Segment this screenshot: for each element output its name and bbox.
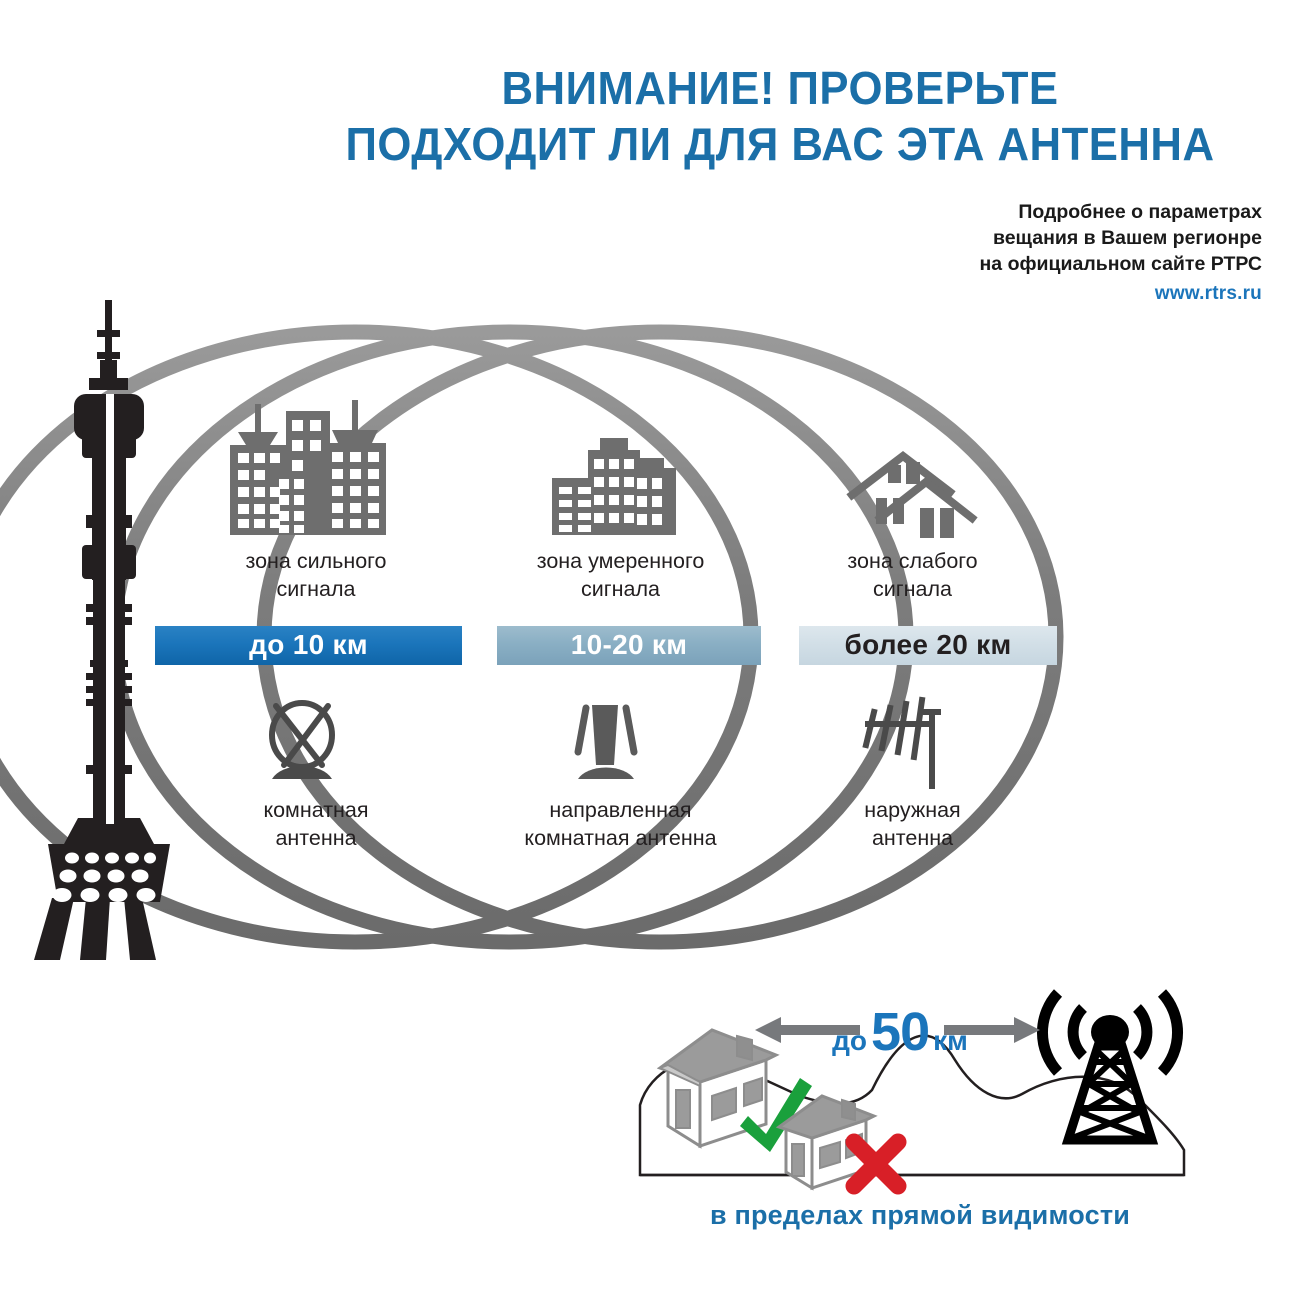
- zone-title-moderate: зона умеренного сигнала: [488, 548, 753, 603]
- antenna-label-outdoor: наружная антенна: [790, 797, 1035, 853]
- max-distance-prefix: до: [832, 1025, 867, 1057]
- zone-title-weak-line-1: зона слабого: [790, 548, 1035, 576]
- distance-band-strong: до 10 км: [155, 626, 462, 665]
- zone-title-strong-line-2: сигнала: [196, 576, 436, 604]
- distance-band-moderate-label: 10-20 км: [497, 629, 761, 661]
- distance-band-weak: более 20 км: [799, 626, 1057, 665]
- distance-band-strong-label: до 10 км: [155, 629, 462, 661]
- page-title-line-1: ВНИМАНИЕ! ПРОВЕРЬТЕ: [324, 60, 1236, 116]
- line-of-sight-caption: в пределах прямой видимости: [620, 1200, 1220, 1231]
- antenna-label-directional-line-1: направленная: [478, 797, 763, 825]
- subtitle-line-3: на официальном сайте РТРС: [902, 252, 1262, 278]
- max-distance-label: до 50 км: [795, 1001, 1005, 1055]
- distance-band-moderate: 10-20 км: [497, 626, 761, 665]
- antenna-label-outdoor-line-2: антенна: [790, 825, 1035, 853]
- max-distance-value: 50: [871, 1001, 929, 1063]
- antenna-label-outdoor-line-1: наружная: [790, 797, 1035, 825]
- antenna-label-indoor: комнатная антенна: [196, 797, 436, 853]
- zone-title-moderate-line-1: зона умеренного: [488, 548, 753, 576]
- antenna-label-indoor-line-1: комнатная: [196, 797, 436, 825]
- zone-title-weak-line-2: сигнала: [790, 576, 1035, 604]
- city-tall-buildings-icon: [230, 400, 386, 535]
- city-mid-buildings-icon: [552, 438, 676, 535]
- page-title: ВНИМАНИЕ! ПРОВЕРЬТЕ ПОДХОДИТ ЛИ ДЛЯ ВАС …: [324, 60, 1236, 172]
- antenna-label-indoor-line-2: антенна: [196, 825, 436, 853]
- max-distance-unit: км: [933, 1025, 968, 1057]
- antenna-label-directional-line-2: комнатная антенна: [478, 825, 763, 853]
- distance-band-weak-label: более 20 км: [799, 629, 1057, 661]
- directional-indoor-antenna-icon: [578, 705, 634, 779]
- indoor-loop-antenna-icon: [272, 703, 332, 779]
- subtitle-line-2: вещания в Вашем регионре: [902, 226, 1262, 252]
- rtrs-website-link[interactable]: www.rtrs.ru: [902, 281, 1262, 306]
- page-title-line-2: ПОДХОДИТ ЛИ ДЛЯ ВАС ЭТА АНТЕННА: [324, 116, 1236, 172]
- zone-title-weak: зона слабого сигнала: [790, 548, 1035, 603]
- zone-title-strong: зона сильного сигнала: [196, 548, 436, 603]
- outdoor-yagi-antenna-icon: [866, 700, 938, 786]
- subtitle-line-1: Подробнее о параметрах: [902, 200, 1262, 226]
- subtitle-block: Подробнее о параметрах вещания в Вашем р…: [902, 200, 1262, 306]
- zone-title-strong-line-1: зона сильного: [196, 548, 436, 576]
- houses-roof-icon: [852, 456, 972, 538]
- infographic-canvas: ВНИМАНИЕ! ПРОВЕРЬТЕ ПОДХОДИТ ЛИ ДЛЯ ВАС …: [0, 0, 1300, 1300]
- zone-title-moderate-line-2: сигнала: [488, 576, 753, 604]
- antenna-label-directional: направленная комнатная антенна: [478, 797, 763, 853]
